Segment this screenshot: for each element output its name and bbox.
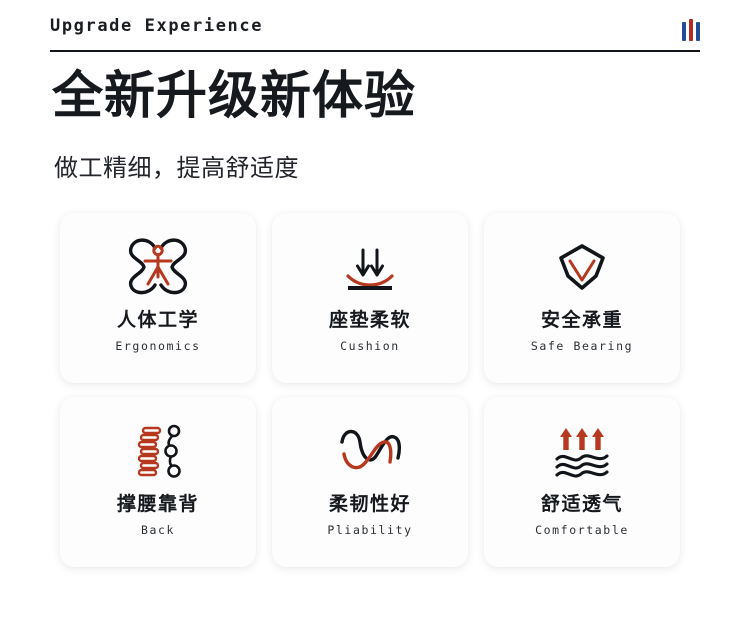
feature-grid: 人体工学 Ergonomics 座垫柔软 Cushion (60, 213, 690, 567)
logo-bar-center (689, 19, 693, 41)
hero-subtitle: 做工精细，提高舒适度 (54, 148, 299, 183)
feature-label-en: Ergonomics (115, 341, 200, 353)
airflow-breathable-icon (546, 415, 618, 487)
feature-card-cushion[interactable]: 座垫柔软 Cushion (272, 213, 468, 383)
feature-label-cn: 舒适透气 (541, 495, 623, 514)
feature-label-cn: 柔韧性好 (329, 495, 411, 514)
feature-label-cn: 人体工学 (117, 311, 199, 330)
feature-label-cn: 撑腰靠背 (117, 495, 199, 514)
hero-title: 全新升级新体验 (52, 68, 416, 124)
feature-card-breathable[interactable]: 舒适透气 Comfortable (484, 397, 680, 567)
feature-label-en: Comfortable (535, 525, 629, 537)
upgrade-experience-page: Upgrade Experience 全新升级新体验 做工精细，提高舒适度 (0, 0, 750, 619)
feature-label-cn: 座垫柔软 (329, 311, 411, 330)
feature-label-cn: 安全承重 (541, 311, 623, 330)
feature-label-en: Cushion (340, 341, 400, 353)
butterfly-ergonomics-icon (122, 231, 194, 303)
three-bars-logo-icon (682, 19, 700, 41)
wavy-pliability-icon (332, 415, 408, 487)
feature-label-en: Pliability (327, 525, 412, 537)
feature-label-en: Safe Bearing (531, 341, 633, 353)
logo-bar-right (696, 22, 700, 41)
page-title: Upgrade Experience (50, 16, 263, 36)
feature-label-en: Back (141, 525, 175, 537)
feature-card-pliability[interactable]: 柔韧性好 Pliability (272, 397, 468, 567)
cushion-press-arrows-icon (334, 231, 406, 303)
spine-back-support-icon (122, 415, 194, 487)
logo-bar-left (682, 22, 686, 41)
feature-card-safe-bearing[interactable]: 安全承重 Safe Bearing (484, 213, 680, 383)
page-header: Upgrade Experience (50, 10, 700, 52)
feature-card-back-support[interactable]: 撑腰靠背 Back (60, 397, 256, 567)
feature-card-ergonomics[interactable]: 人体工学 Ergonomics (60, 213, 256, 383)
diamond-safe-bearing-icon (546, 231, 618, 303)
